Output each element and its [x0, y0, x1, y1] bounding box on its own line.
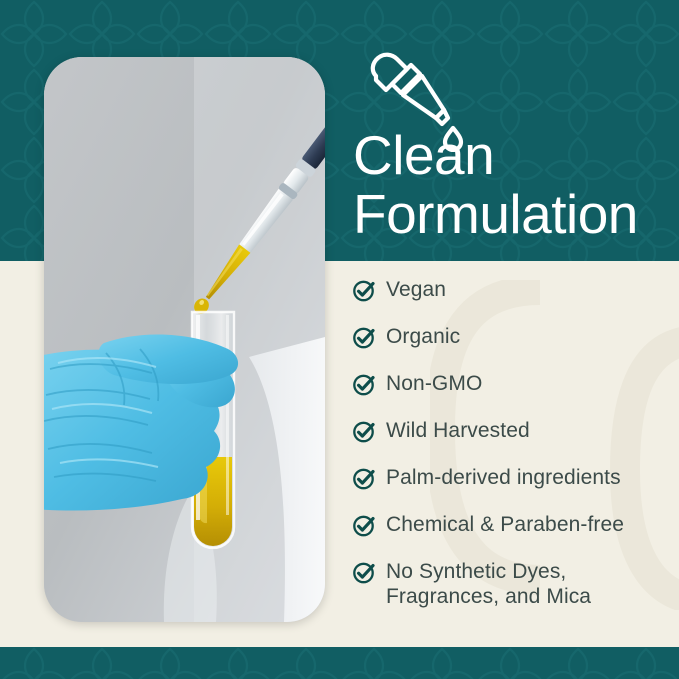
list-item-label: Chemical & Paraben-free [386, 513, 624, 538]
infographic-canvas: Clean Formulation Vegan Organic Non-GMO … [0, 0, 679, 679]
list-item-label: Palm-derived ingredients [386, 466, 621, 491]
check-circle-icon [352, 279, 376, 303]
checklist-item-3: Wild Harvested [352, 419, 672, 444]
product-photo [44, 57, 325, 622]
check-circle-icon [352, 326, 376, 350]
check-circle-icon [352, 467, 376, 491]
list-item-label: Vegan [386, 278, 446, 303]
checklist-item-5: Chemical & Paraben-free [352, 513, 672, 538]
benefits-checklist: Vegan Organic Non-GMO Wild Harvested Pal… [352, 278, 672, 610]
list-item-label: Organic [386, 325, 460, 350]
lab-pipette-photo [44, 57, 325, 622]
arabesque-pattern-footer [0, 647, 679, 679]
checklist-item-4: Palm-derived ingredients [352, 466, 672, 491]
list-item-label: No Synthetic Dyes, Fragrances, and Mica [386, 560, 591, 610]
list-item-label: Wild Harvested [386, 419, 530, 444]
check-circle-icon [352, 514, 376, 538]
checklist-item-1: Organic [352, 325, 672, 350]
checklist-item-2: Non-GMO [352, 372, 672, 397]
page-title: Clean Formulation [353, 126, 673, 245]
list-item-label: Non-GMO [386, 372, 482, 397]
checklist-item-6: No Synthetic Dyes, Fragrances, and Mica [352, 560, 672, 610]
title-line-2: Formulation [353, 185, 673, 244]
checklist-item-0: Vegan [352, 278, 672, 303]
teal-footer-band [0, 647, 679, 679]
check-circle-icon [352, 373, 376, 397]
check-circle-icon [352, 420, 376, 444]
check-circle-icon [352, 561, 376, 585]
title-line-1: Clean [353, 124, 494, 186]
